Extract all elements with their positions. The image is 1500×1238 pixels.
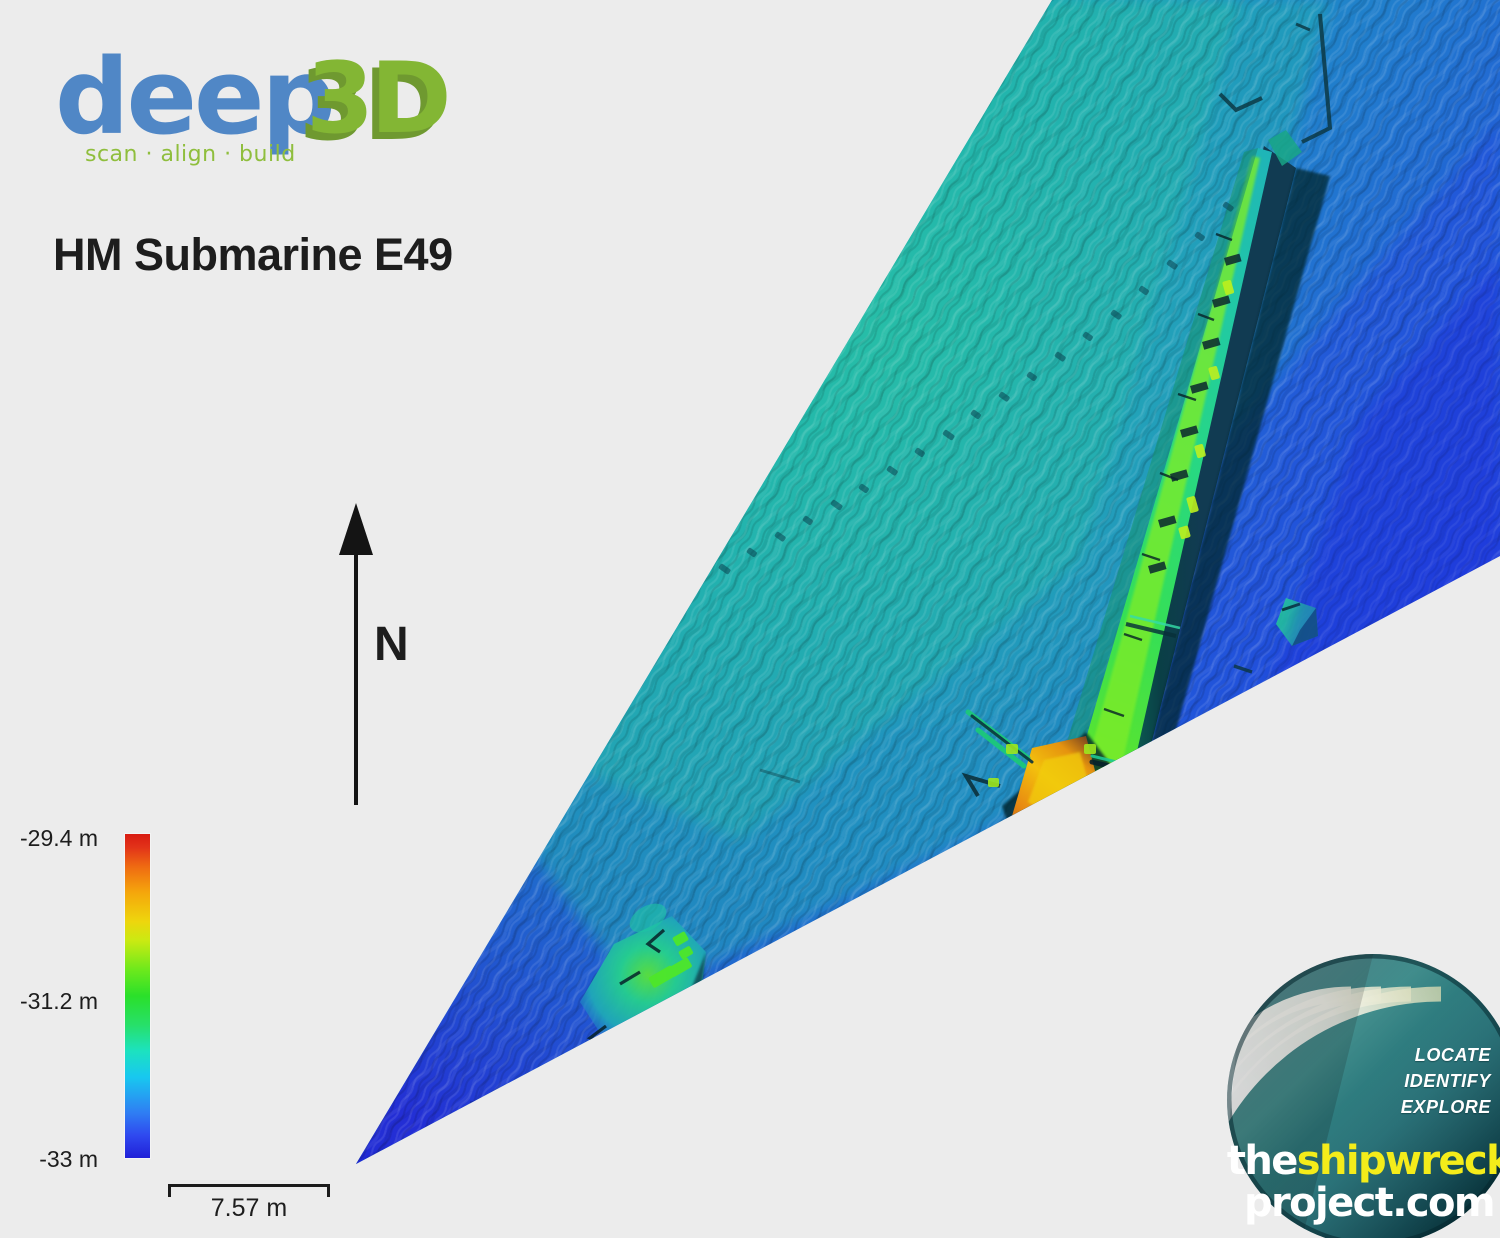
- badge-tagline-locate: LOCATE: [1415, 1045, 1491, 1066]
- page-title: HM Submarine E49: [53, 229, 453, 281]
- badge-brand-the: the: [1227, 1138, 1297, 1184]
- badge-brand-line-1: theshipwreck: [1226, 1138, 1500, 1184]
- scale-bar: 7.57 m: [160, 1178, 350, 1228]
- badge-brand-shipwreck: shipwreck: [1297, 1138, 1500, 1184]
- depth-colorbar-legend: -29.4 m -31.2 m -33 m: [20, 820, 200, 1180]
- logo-tagline: scan · align · build: [85, 142, 296, 167]
- shipwreck-project-badge[interactable]: LOCATE IDENTIFY EXPLORE theshipwreck pro…: [1226, 953, 1500, 1238]
- colorbar-mid-label: -31.2 m: [20, 988, 98, 1015]
- depth-colorbar-gradient: [124, 833, 151, 1159]
- colorbar-min-label: -33 m: [39, 1146, 98, 1173]
- logo-word-3d: 3D: [306, 50, 448, 148]
- deep3d-logo: deep 3D 3D scan · align · build: [55, 45, 495, 175]
- north-arrow-shaft: [354, 540, 358, 805]
- scale-bar-label: 7.57 m: [160, 1194, 338, 1223]
- north-arrow-label: N: [374, 617, 409, 672]
- badge-tagline-identify: IDENTIFY: [1404, 1071, 1491, 1092]
- badge-brand-line-2: project.com: [1226, 1180, 1500, 1226]
- bathymetry-figure: deep 3D 3D scan · align · build HM Subma…: [0, 0, 1500, 1238]
- logo-word-3d-group: 3D 3D: [299, 50, 499, 160]
- colorbar-max-label: -29.4 m: [20, 825, 98, 852]
- badge-tagline-explore: EXPLORE: [1401, 1097, 1491, 1118]
- north-arrow: N: [330, 500, 440, 810]
- logo-word-deep: deep: [55, 45, 333, 149]
